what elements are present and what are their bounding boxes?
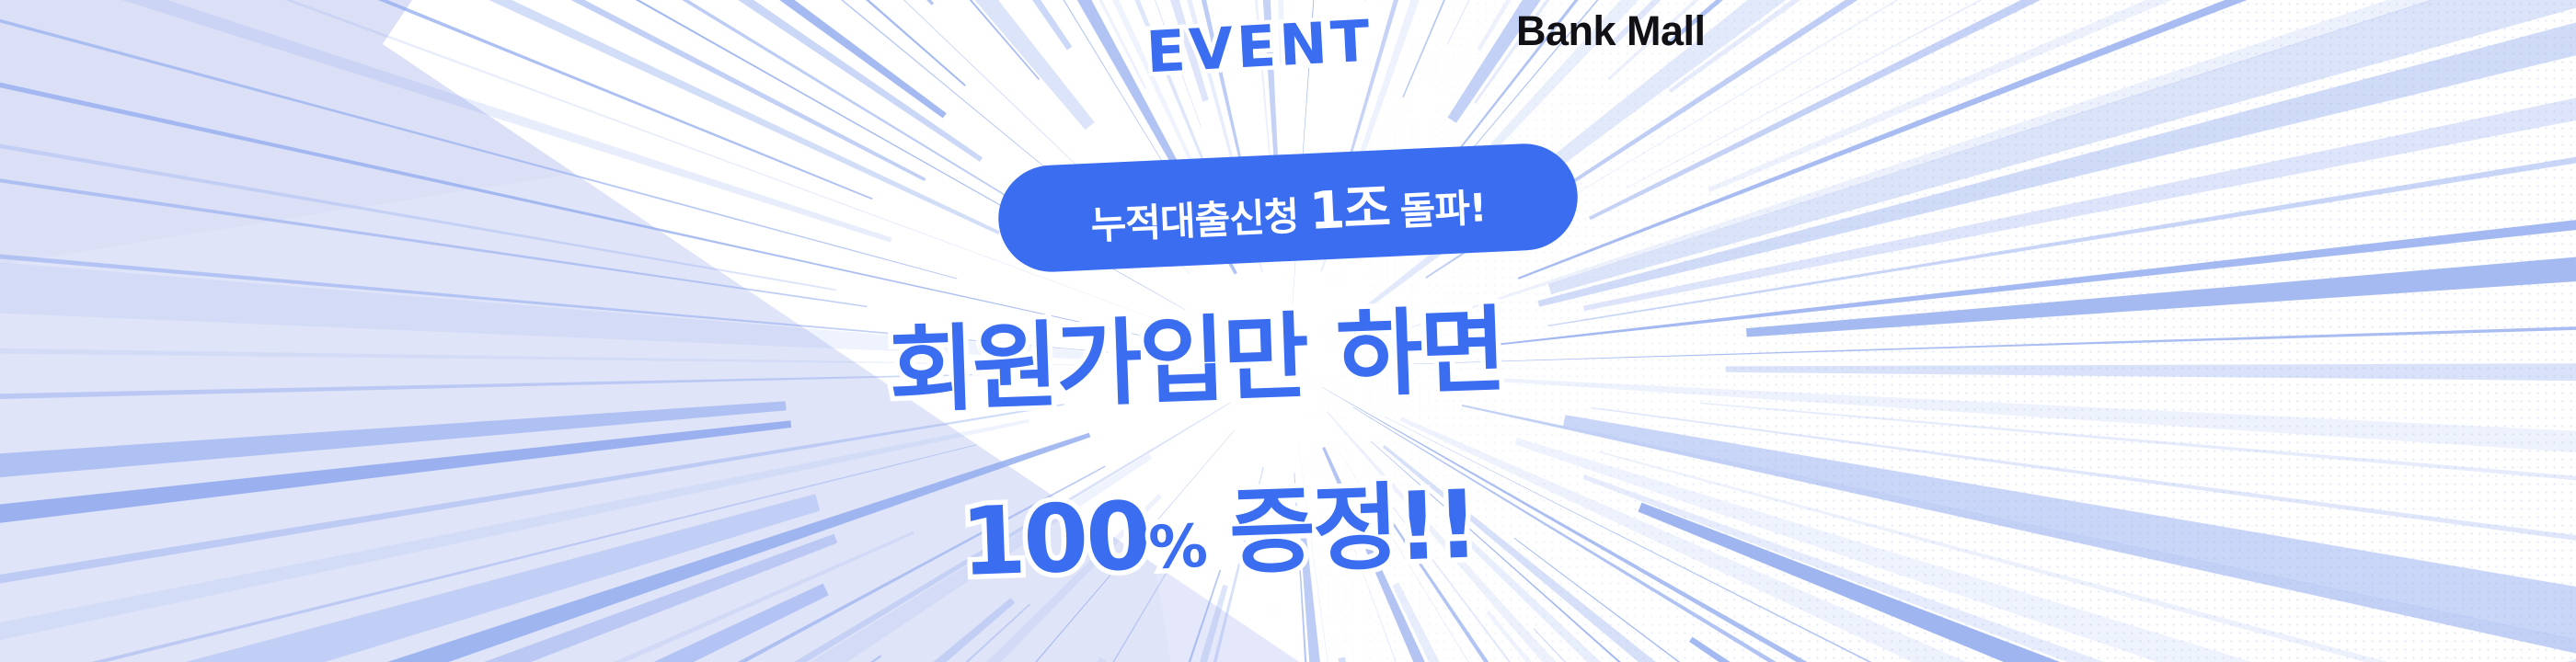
milestone-badge-number: 1조 (1307, 166, 1390, 245)
headline-spacer (1206, 565, 1230, 566)
headline-amount: 100 (959, 482, 1150, 598)
headline-suffix: 증정!! (1226, 449, 1478, 592)
milestone-badge-lead: 누적대출신청 (1089, 185, 1299, 250)
headline-line-1: 회원가입만 하면 (886, 275, 1505, 431)
banner-content: Bank Mall EVENT 누적대출신청 1조 돌파! 회원가입만 하면 1… (0, 0, 2576, 662)
headline-percent-sign: % (1147, 513, 1207, 583)
promo-banner[interactable]: Bank Mall EVENT 누적대출신청 1조 돌파! 회원가입만 하면 1… (0, 0, 2576, 662)
milestone-badge: 누적대출신청 1조 돌파! (996, 142, 1581, 274)
milestone-badge-text: 누적대출신청 1조 돌파! (1088, 162, 1487, 254)
milestone-badge-tail: 돌파! (1398, 177, 1487, 236)
headline-line-2: 100 % 증정!! (958, 449, 1478, 601)
brand-logo: Bank Mall (1516, 7, 1706, 55)
event-label: EVENT (1144, 7, 1374, 86)
